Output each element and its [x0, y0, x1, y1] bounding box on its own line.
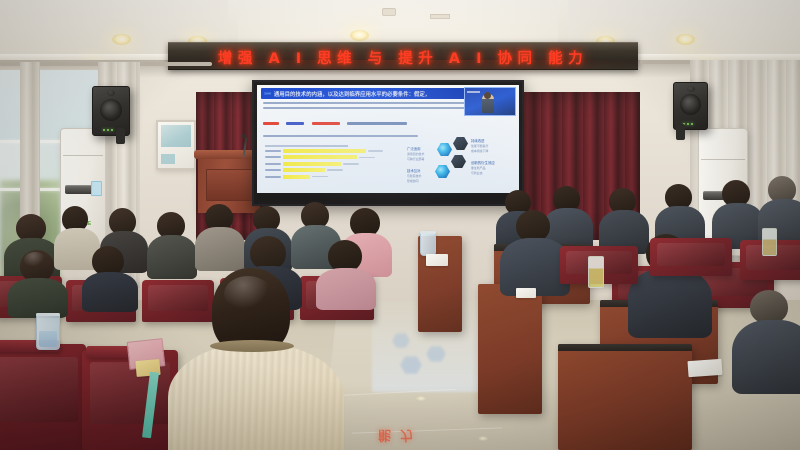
chart-bar	[283, 162, 341, 166]
wall-notice-board	[156, 120, 196, 170]
hexagon-label: 技术互补 与既有技术形成协同	[407, 169, 421, 184]
chart-bar	[283, 149, 366, 153]
projection-screen: »»» 通用目的技术的内涵，以及达到临界应用水平的必要条件：假定，	[252, 80, 524, 206]
speaker-tweeter	[107, 90, 115, 96]
chart-bar-row	[265, 155, 383, 159]
hexagon-icon	[453, 137, 468, 150]
podium-front-panel	[206, 169, 254, 201]
slide-text-line	[263, 135, 418, 137]
presenter-head	[484, 92, 491, 99]
desk-surface	[558, 344, 692, 351]
attendee-body	[732, 320, 800, 394]
chart-bar-row	[265, 175, 383, 179]
wall-notice-panel	[161, 125, 191, 147]
hexagon-icon	[435, 165, 450, 178]
attendee-body	[82, 272, 138, 312]
conference-room-photo: 增强 A I 思维 与 提升 A I 协同 能力 GREE GREE	[0, 0, 800, 450]
chart-category-label	[265, 163, 281, 165]
slide-hexagon-graphic: 广泛适用 通用目的技术可跨行业部署 技术互补 与既有技术形成协同 持续改进 性能…	[407, 137, 511, 189]
pip-video-window[interactable]	[464, 87, 516, 116]
chart-bar	[283, 168, 325, 172]
ac-seam	[701, 159, 745, 160]
slide-bar-chart	[265, 145, 383, 181]
pip-background-slide	[467, 91, 480, 93]
floor-light-reflection	[416, 396, 426, 401]
hexagon-label: 广泛适用 通用目的技术可跨行业部署	[407, 147, 424, 162]
hexagon-icon	[451, 155, 466, 168]
sweater-collar	[210, 340, 294, 352]
chart-category-label	[265, 176, 281, 178]
slide-title-text: 通用目的技术的内涵，以及达到临界应用水平的必要条件：假定，	[274, 90, 430, 98]
speaker-cone	[680, 94, 701, 115]
chart-bar	[283, 175, 310, 179]
speaker-cone	[100, 99, 122, 121]
downlight	[112, 34, 131, 45]
hexagon-label: 创新的衍生效应 催生新产品与新业态	[471, 161, 495, 176]
chart-value-label	[312, 176, 328, 178]
attendee-head	[750, 290, 788, 324]
paper-sheet[interactable]	[426, 254, 448, 266]
podium[interactable]	[198, 155, 260, 213]
chart-bar-row	[265, 168, 383, 172]
led-banner-glow	[150, 60, 660, 76]
hexagon-label: 持续改进 性能不断提升成本持续下降	[471, 139, 488, 154]
downlight	[676, 34, 695, 45]
water-cup[interactable]	[420, 232, 436, 256]
attendee-body	[147, 235, 197, 279]
chart-title	[265, 145, 348, 147]
tea-glass[interactable]	[588, 256, 604, 288]
wall-notice-sub	[161, 154, 175, 164]
attendee-body-sweater	[168, 344, 344, 450]
ac-seam	[63, 155, 104, 156]
chair[interactable]	[142, 280, 214, 322]
slide-text-line-highlighted	[263, 115, 513, 133]
speaker-led-indicators	[103, 129, 113, 131]
cup-lid	[36, 313, 60, 316]
wall-speaker-right	[673, 82, 708, 130]
ceiling-projector-mount	[382, 8, 396, 16]
cup-contents	[39, 331, 57, 347]
chart-bar-row	[265, 162, 383, 166]
slide-text-line	[263, 107, 473, 109]
desk[interactable]	[558, 344, 692, 450]
chart-category-label	[265, 169, 281, 171]
chart-bar	[283, 155, 357, 159]
ceiling-bracket	[430, 14, 450, 19]
attendee-body	[628, 268, 712, 338]
slide-title-bar: »»» 通用目的技术的内涵，以及达到临界应用水平的必要条件：假定，	[261, 88, 465, 99]
speaker-bracket-left	[116, 128, 125, 144]
ac-badge	[91, 181, 102, 196]
attendee-head	[250, 236, 286, 270]
attendee-body	[195, 227, 245, 271]
chart-category-label	[265, 156, 281, 158]
chart-bar-row	[265, 149, 383, 153]
speaker-tweeter	[687, 86, 695, 92]
attendee-body	[8, 278, 68, 318]
paper-sheet[interactable]	[516, 288, 536, 298]
ceiling-recess-center	[232, 0, 562, 48]
tea-glass[interactable]	[762, 228, 777, 256]
speaker-bracket-right	[676, 124, 685, 140]
chart-value-label	[368, 150, 383, 152]
screen-bezel-bottom	[257, 195, 519, 201]
paper-sheet[interactable]	[687, 359, 722, 377]
chart-category-label	[265, 150, 281, 152]
chart-value-label	[359, 157, 375, 159]
downlight	[350, 30, 369, 41]
water-cup[interactable]	[36, 314, 60, 350]
hair-highlight	[224, 276, 272, 312]
attendee-body	[316, 268, 376, 310]
desk-side-panel[interactable]	[478, 284, 542, 414]
chair[interactable]	[650, 238, 732, 276]
chart-value-label	[343, 163, 359, 165]
slide-title-bullet-icon: »»»	[264, 91, 271, 97]
microphone-icon	[242, 134, 246, 138]
cup-lid	[420, 231, 436, 234]
projected-slide: »»» 通用目的技术的内涵，以及达到临界应用水平的必要条件：假定，	[257, 85, 519, 193]
chair-foreground[interactable]	[0, 344, 86, 450]
hexagon-icon	[437, 143, 452, 156]
chart-value-label	[327, 169, 343, 171]
hair-highlight	[24, 252, 46, 268]
